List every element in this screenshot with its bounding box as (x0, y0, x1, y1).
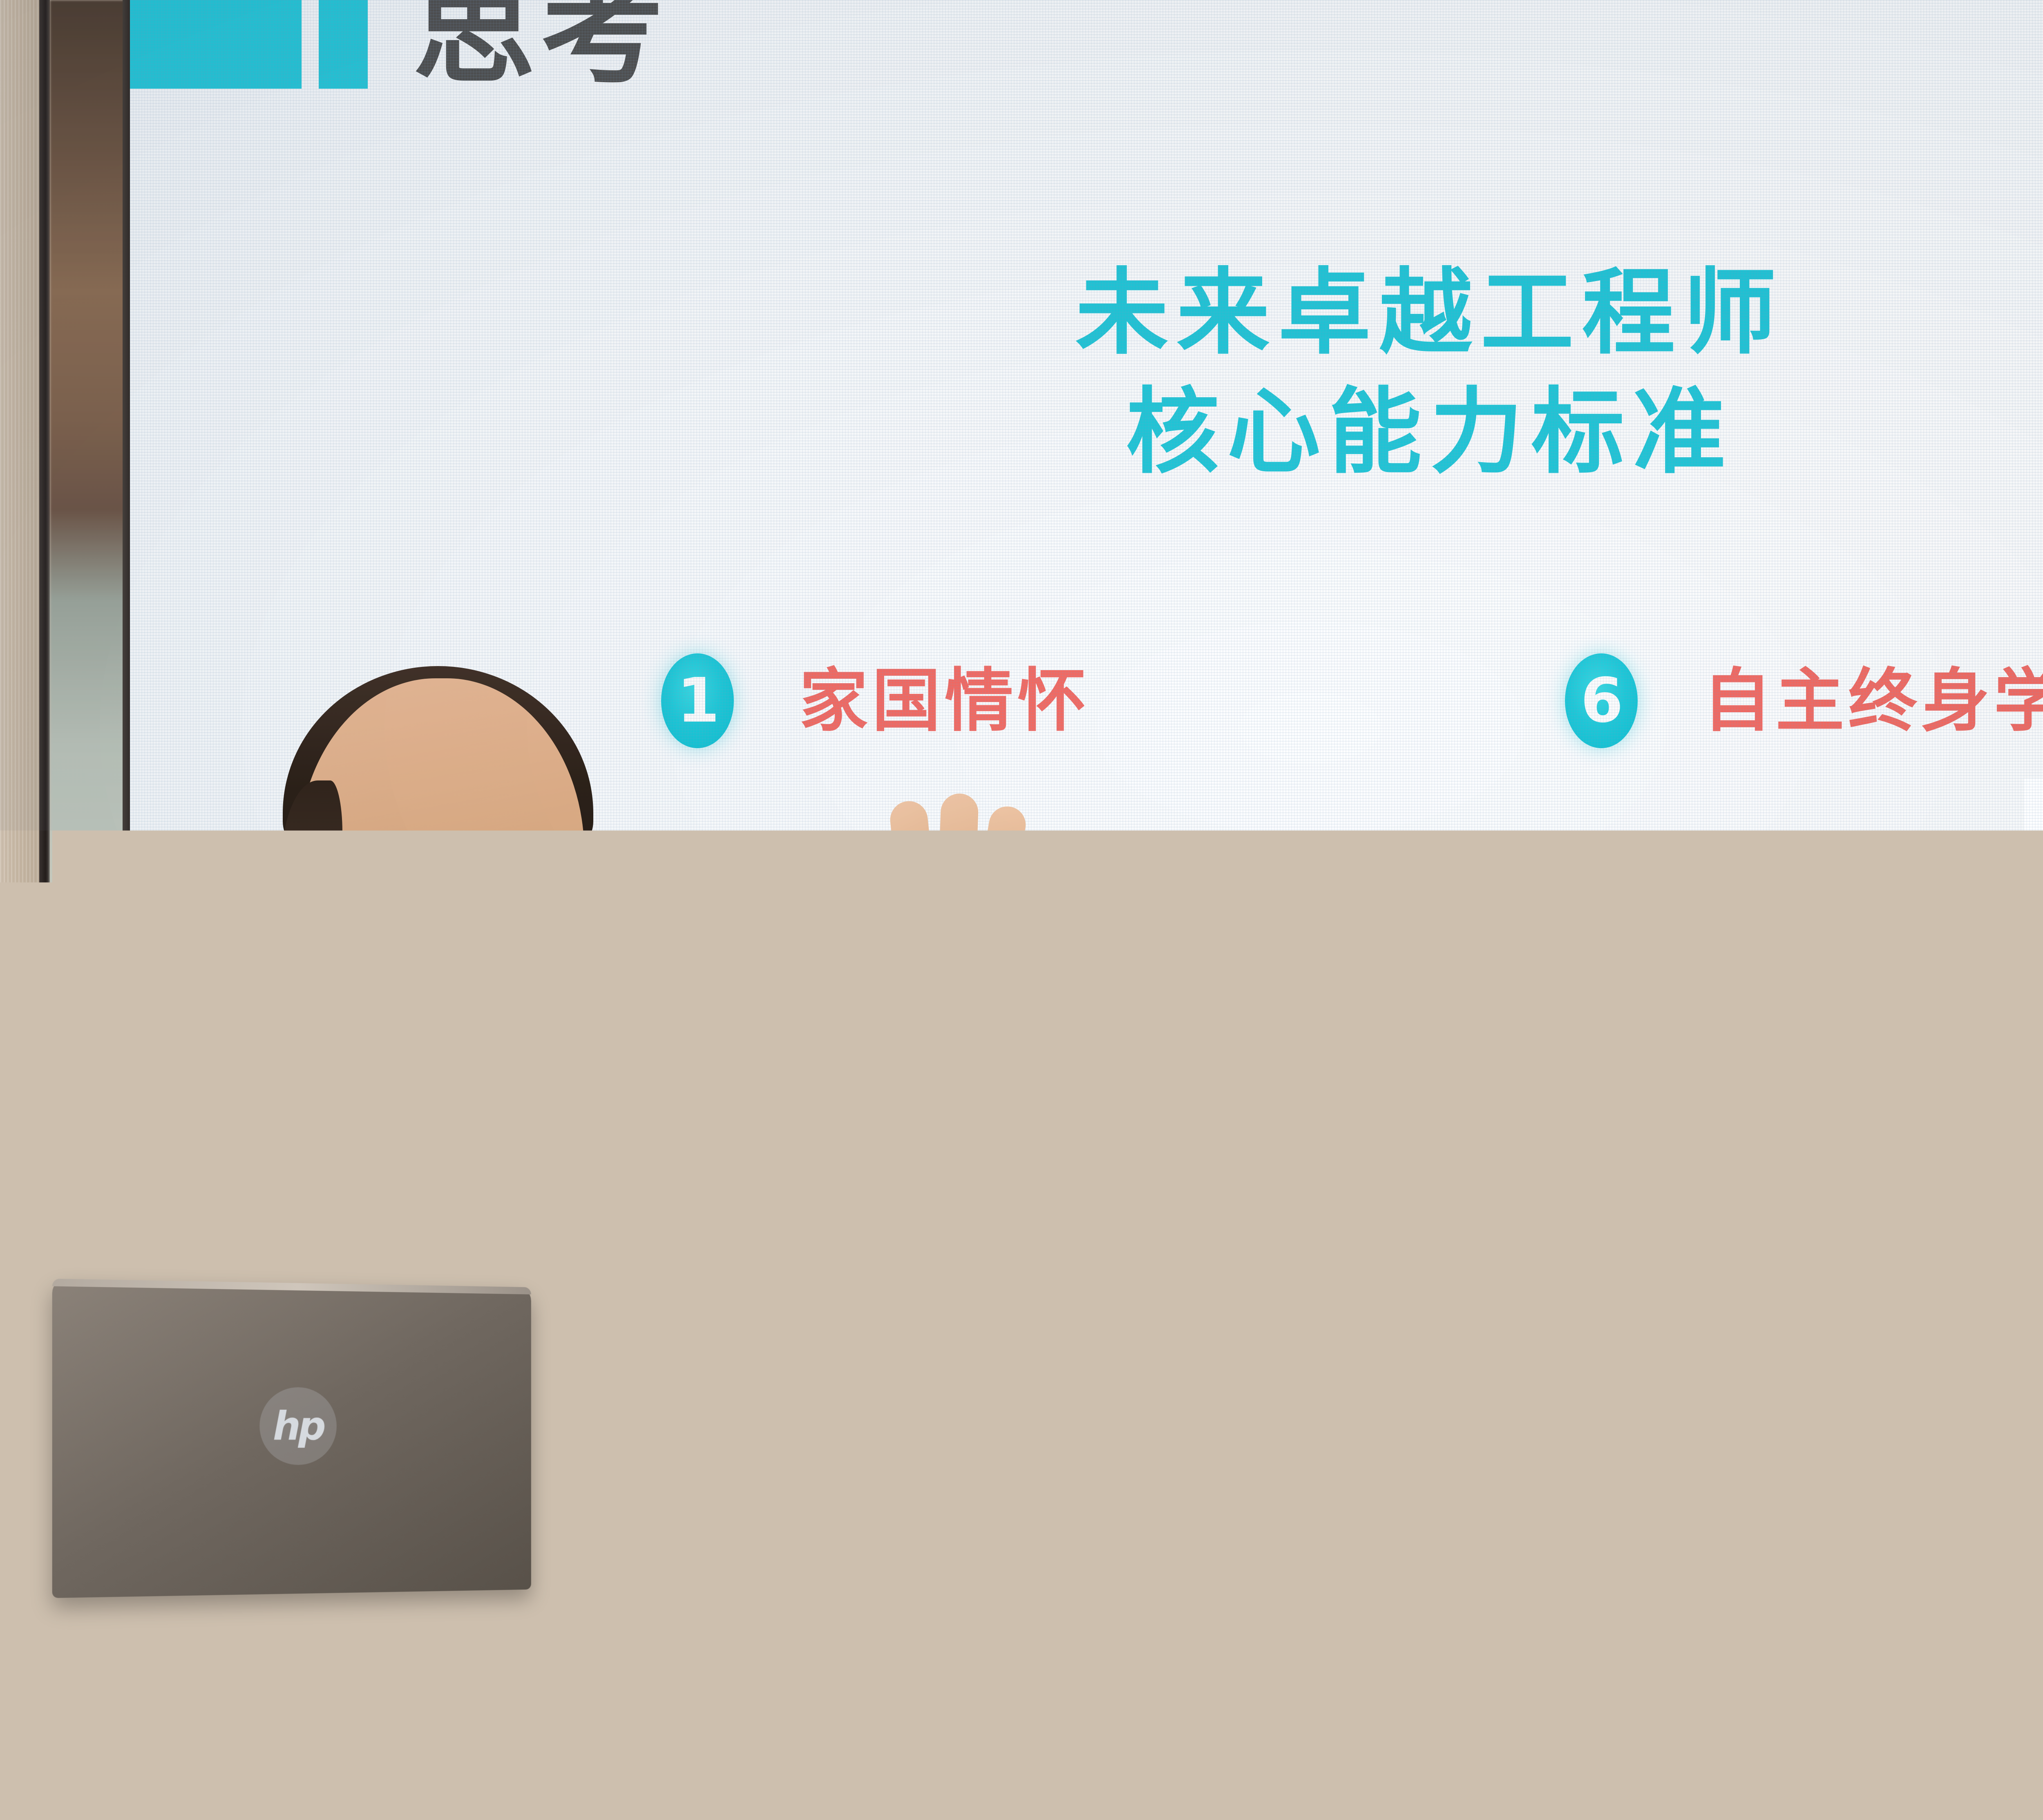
slide-title-line-2: 核心能力标准 (130, 373, 2043, 492)
list-item: 9 环境和可持续发展 (1565, 1242, 2043, 1459)
list-item: 8 工程领导力 (1565, 1026, 2043, 1242)
number-badge: 8 (1565, 1087, 1638, 1181)
item-label: 沟通与协商 (1703, 883, 2043, 952)
number-badge: 10 (1565, 1520, 1647, 1614)
badge-number: 7 (1580, 887, 1621, 948)
collar-stripe (320, 1060, 429, 1187)
item-label: 环境和可持续发展 (1703, 1316, 2043, 1385)
item-label: 数字化能力 (1712, 1533, 2043, 1601)
finger (937, 793, 979, 929)
item-label: 工程领导力 (1703, 1100, 2043, 1168)
number-badge: 6 (1565, 653, 1638, 748)
eyeglass-bridge (422, 888, 447, 896)
slide-title: 未来卓越工程师 核心能力标准 (130, 253, 2043, 492)
eyeglass-lens-left (303, 865, 426, 941)
badge-number: 10 (1568, 1538, 1643, 1596)
slide-title-line-1: 未来卓越工程师 (130, 253, 2043, 373)
podium (0, 1524, 723, 1820)
number-badge: 7 (1565, 870, 1638, 965)
badge-number: 8 (1580, 1103, 1621, 1165)
header-title: 思考 (413, 0, 669, 91)
header-accent-block (130, 0, 302, 89)
hp-logo-icon: hp (259, 1387, 337, 1465)
badge-number: 9 (1580, 1320, 1621, 1381)
number-badge: 9 (1565, 1303, 1638, 1398)
badge-number: 6 (1580, 670, 1621, 731)
hp-logo-text: hp (273, 1403, 324, 1449)
eyeglasses (298, 863, 592, 949)
list-item: 7 沟通与协商 (1565, 809, 2043, 1026)
list-item: 10 数字化能力 (1565, 1459, 2043, 1675)
slide-header: 思考 (130, 0, 669, 91)
header-accent-bar (319, 0, 368, 89)
list-item: 6 自主终身学习 (1565, 593, 2043, 809)
competency-column-right: 6 自主终身学习 7 沟通与协商 8 工程领导力 9 环境和可持续发展 10 (1430, 593, 2043, 1675)
finger (888, 799, 939, 929)
presentation-photo: 思考 未来卓越工程师 核心能力标准 1 家国情怀 2 创新创业 3 跨学科交叉融… (0, 0, 2043, 1820)
item-label: 自主终身学习 (1703, 666, 2043, 735)
speaker-nose (437, 940, 486, 1005)
eyeglass-lens-right (441, 865, 564, 941)
